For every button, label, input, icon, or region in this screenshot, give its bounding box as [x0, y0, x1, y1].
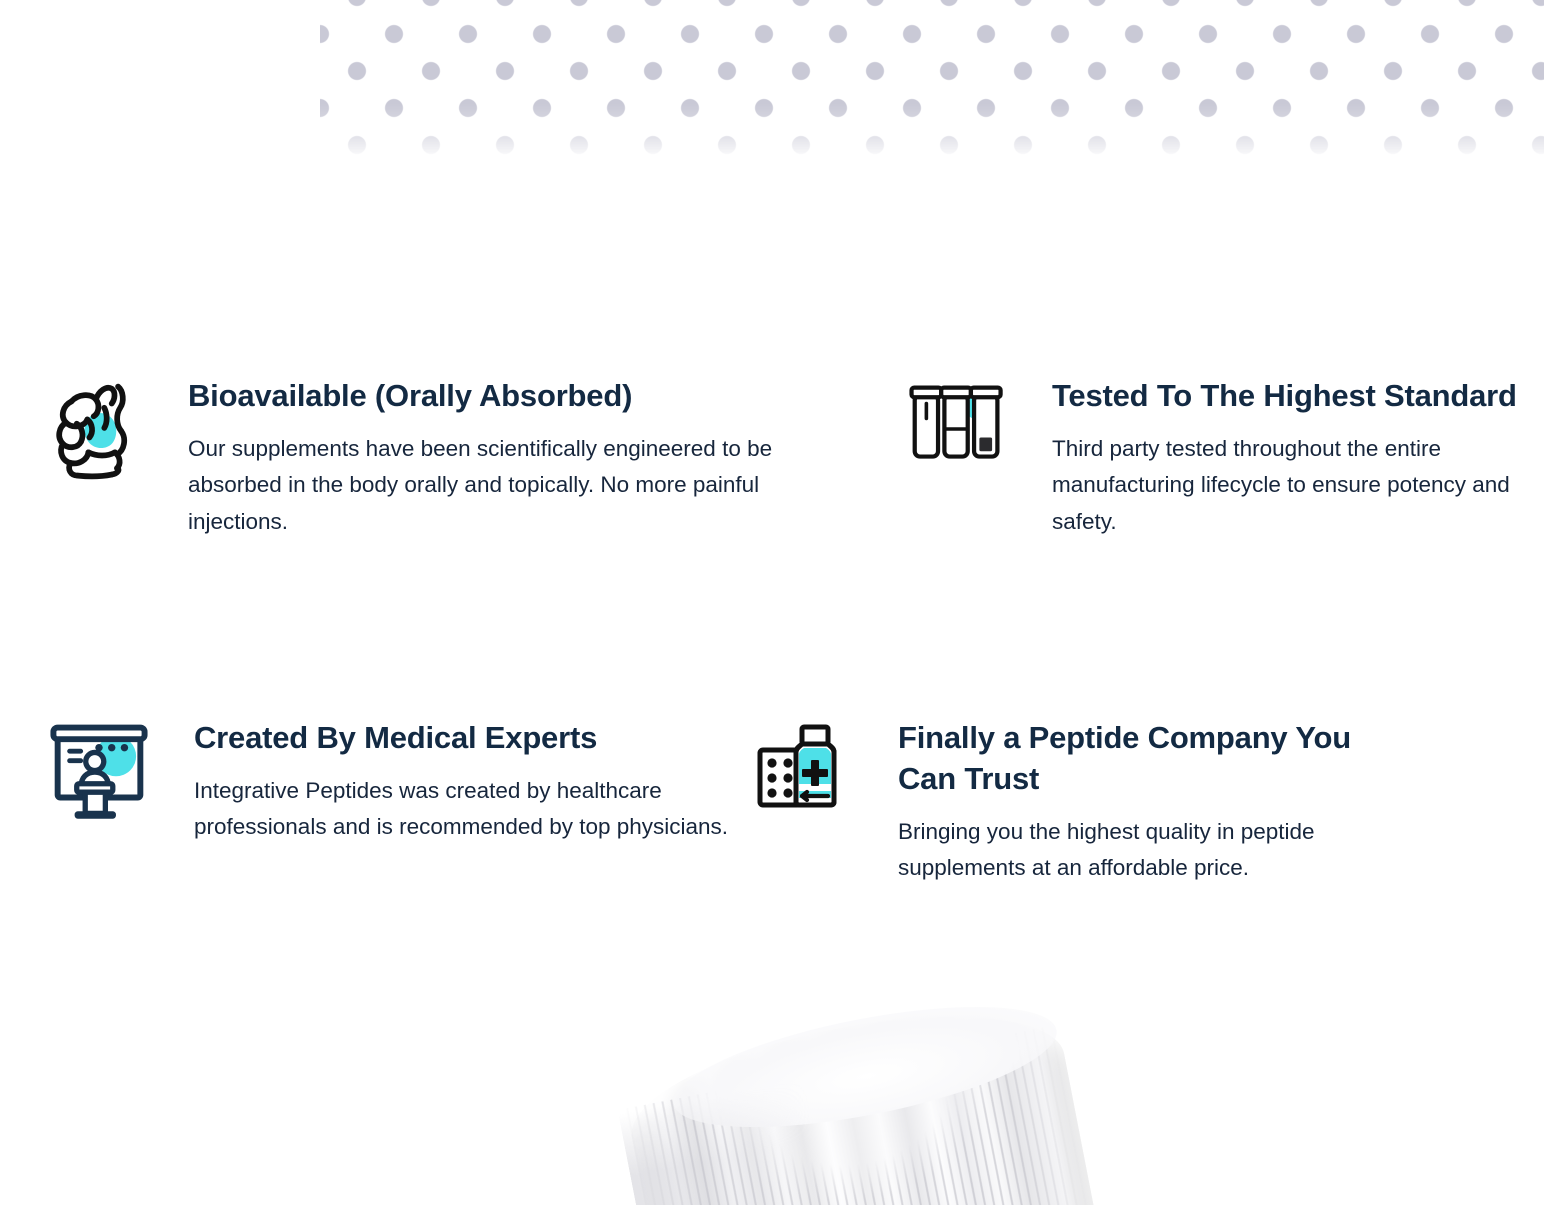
feature-description: Our supplements have been scientifically… [188, 431, 846, 540]
presentation-podium-icon [46, 718, 154, 826]
feature-description: Third party tested throughout the entire… [1052, 431, 1522, 540]
feature-title: Bioavailable (Orally Absorbed) [188, 376, 846, 417]
feature-body-bioavailable: Bioavailable (Orally Absorbed) Our suppl… [188, 376, 846, 540]
feature-body-trust: Finally a Peptide Company You Can Trust … [898, 718, 1392, 887]
feature-title: Tested To The Highest Standard [1052, 376, 1522, 417]
feature-card-trust: Finally a Peptide Company You Can Trust … [752, 718, 1392, 887]
feature-body-experts: Created By Medical Experts Integrative P… [194, 718, 746, 846]
feature-body-tested: Tested To The Highest Standard Third par… [1052, 376, 1522, 540]
feature-card-tested: Tested To The Highest Standard Third par… [902, 376, 1522, 540]
test-tubes-icon [902, 376, 1010, 484]
feature-grid: Bioavailable (Orally Absorbed) Our suppl… [0, 0, 1544, 1103]
feature-description: Integrative Peptides was created by heal… [194, 773, 746, 846]
intestine-icon [46, 376, 154, 484]
feature-card-experts: Created By Medical Experts Integrative P… [46, 718, 746, 846]
feature-title: Finally a Peptide Company You Can Trust [898, 718, 1392, 800]
feature-card-bioavailable: Bioavailable (Orally Absorbed) Our suppl… [46, 376, 846, 540]
feature-description: Bringing you the highest quality in pept… [898, 814, 1392, 887]
pill-pack-and-bottle-icon [752, 718, 860, 826]
feature-title: Created By Medical Experts [194, 718, 746, 759]
